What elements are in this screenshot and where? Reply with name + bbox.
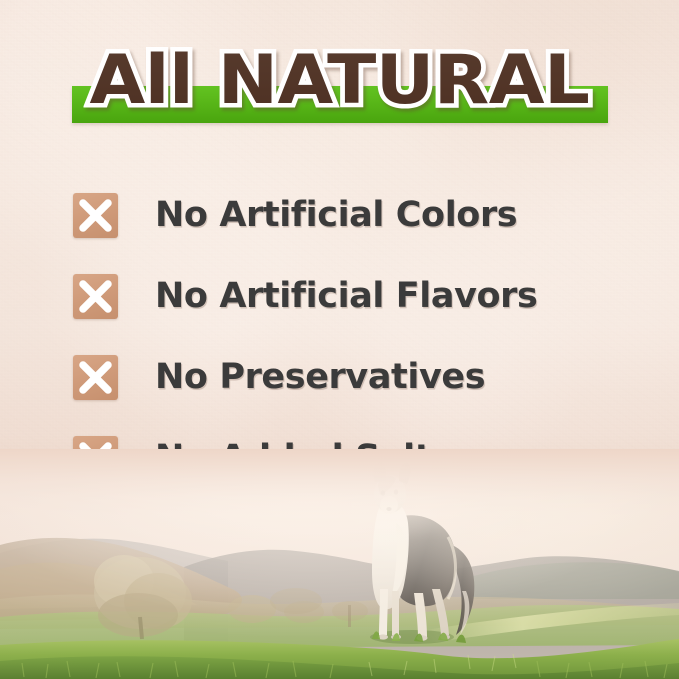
landscape-photo	[0, 449, 679, 679]
x-mark-icon	[73, 274, 118, 319]
x-mark-icon	[73, 193, 118, 238]
page-title: All NATURAL	[0, 46, 679, 116]
x-mark-icon	[73, 355, 118, 400]
list-item-label: No Artificial Colors	[155, 197, 517, 234]
product-infographic-poster: All NATURAL No Artificial Colors	[0, 0, 679, 679]
list-item-label: No Preservatives	[155, 359, 485, 396]
list-item: No Artificial Flavors	[0, 256, 679, 337]
list-item: No Preservatives	[0, 337, 679, 418]
headline-banner: All NATURAL	[0, 46, 679, 132]
list-item: No Artificial Colors	[0, 175, 679, 256]
list-item-label: No Artificial Flavors	[155, 278, 537, 315]
